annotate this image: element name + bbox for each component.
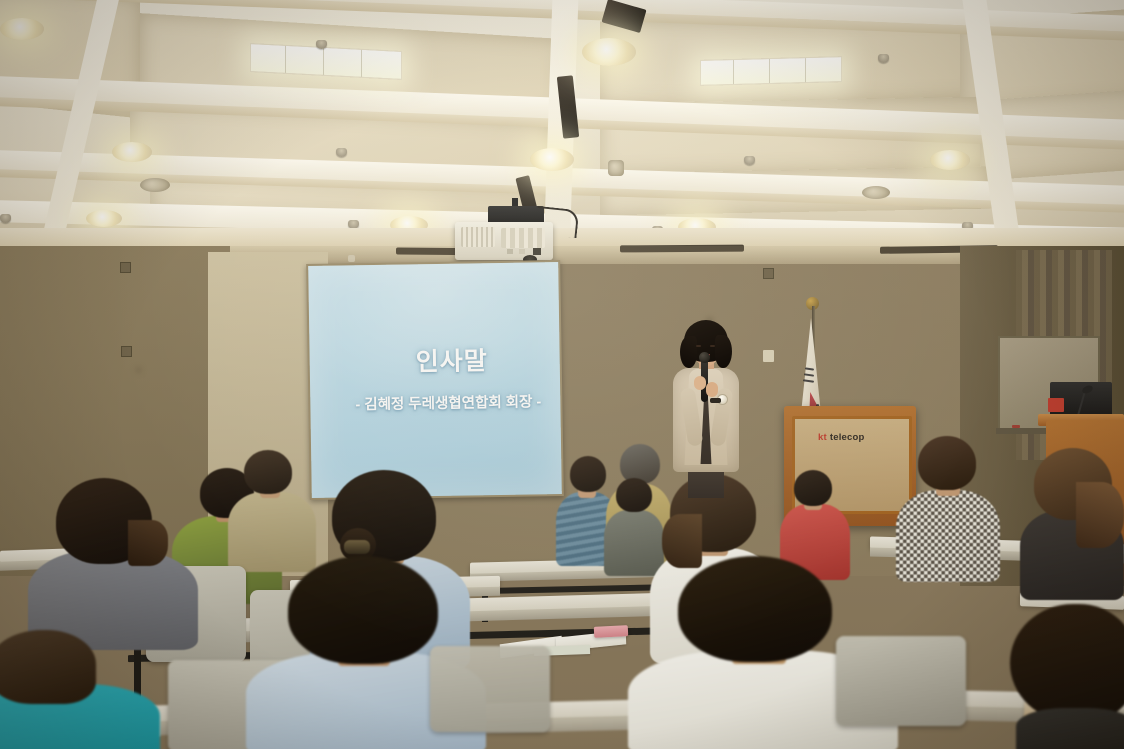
audience-member xyxy=(986,604,1124,749)
audience-member xyxy=(228,450,316,572)
wall-mark xyxy=(136,368,141,372)
ceiling-downlight xyxy=(86,210,122,227)
slide-subtitle: - 김혜정 두레생협연합회 회장 - xyxy=(310,390,560,415)
wall-outlet-plate xyxy=(121,346,132,357)
person-head xyxy=(244,450,292,494)
wall-outlet-plate xyxy=(763,268,774,279)
ceiling-projector xyxy=(455,222,553,260)
telecop-logo-text: telecop xyxy=(830,432,865,443)
person-head xyxy=(794,470,832,506)
sprinkler-head xyxy=(744,156,755,165)
ceiling-downlight xyxy=(930,150,970,170)
sprinkler-head xyxy=(0,214,11,223)
chair-back xyxy=(836,636,966,726)
kt-logo-text: kt xyxy=(818,432,827,443)
ceiling-speaker xyxy=(140,178,170,192)
person-head xyxy=(288,556,438,664)
person-torso xyxy=(896,490,1000,582)
person-head xyxy=(678,556,832,662)
pink-notebook xyxy=(594,625,629,638)
person-head xyxy=(570,456,606,492)
ceiling-speaker xyxy=(608,160,624,176)
ceiling-speaker xyxy=(862,186,890,199)
projector-port-panel xyxy=(501,228,545,248)
ceiling-downlight xyxy=(112,142,152,162)
projection-screen: 인사말 - 김혜정 두레생협연합회 회장 - xyxy=(308,262,562,498)
projector-vent xyxy=(461,227,495,247)
person-head xyxy=(918,436,976,490)
projector-indicator xyxy=(507,249,513,254)
presenter-hand-right xyxy=(706,382,718,397)
podium-logo: kttelecop xyxy=(818,432,865,443)
wall-outlet-plate xyxy=(120,262,131,273)
audience-member xyxy=(896,436,1000,582)
screen-mount xyxy=(348,255,355,262)
audience-member xyxy=(1020,448,1124,598)
wall-light-reflection xyxy=(763,350,774,362)
presenter-hair-right xyxy=(715,335,732,368)
whiteboard-marker xyxy=(1012,425,1020,428)
presenter-hand-left xyxy=(694,376,706,390)
sprinkler-head xyxy=(878,54,889,63)
slide-title: 인사말 xyxy=(310,348,560,377)
slide-text-block: 인사말 - 김혜정 두레생협연합회 회장 - xyxy=(310,348,561,415)
sprinkler-head xyxy=(336,148,347,157)
sprinkler-head xyxy=(316,40,327,49)
person-hair-strand xyxy=(1076,482,1124,548)
chair-back xyxy=(430,646,550,732)
ceiling-downlight xyxy=(582,38,636,66)
projector-indicator xyxy=(533,248,541,255)
person-hair-strand xyxy=(128,520,168,566)
lecture-hall-photo: 인사말 - 김혜정 두레생협연합회 회장 - kttelecop kt xyxy=(0,0,1124,749)
projector-indicator xyxy=(519,249,525,254)
hair-clip xyxy=(344,540,370,554)
person-torso xyxy=(1016,708,1124,749)
microphone-head xyxy=(699,352,710,363)
person-head xyxy=(616,478,652,512)
ceiling-light-panel xyxy=(700,56,842,86)
presenter xyxy=(660,320,750,500)
presenter-eye-left xyxy=(696,345,701,347)
audience-member xyxy=(0,630,160,749)
audience-member xyxy=(28,478,198,648)
ceiling-downlight xyxy=(0,18,44,40)
presenter-eye-right xyxy=(710,345,715,347)
presenter-hair-left xyxy=(680,336,697,368)
ceiling-downlight xyxy=(530,148,574,171)
person-head xyxy=(0,630,96,704)
podium-right-accent xyxy=(1048,398,1064,412)
presenter-watch xyxy=(710,398,721,403)
person-head xyxy=(1010,604,1124,722)
